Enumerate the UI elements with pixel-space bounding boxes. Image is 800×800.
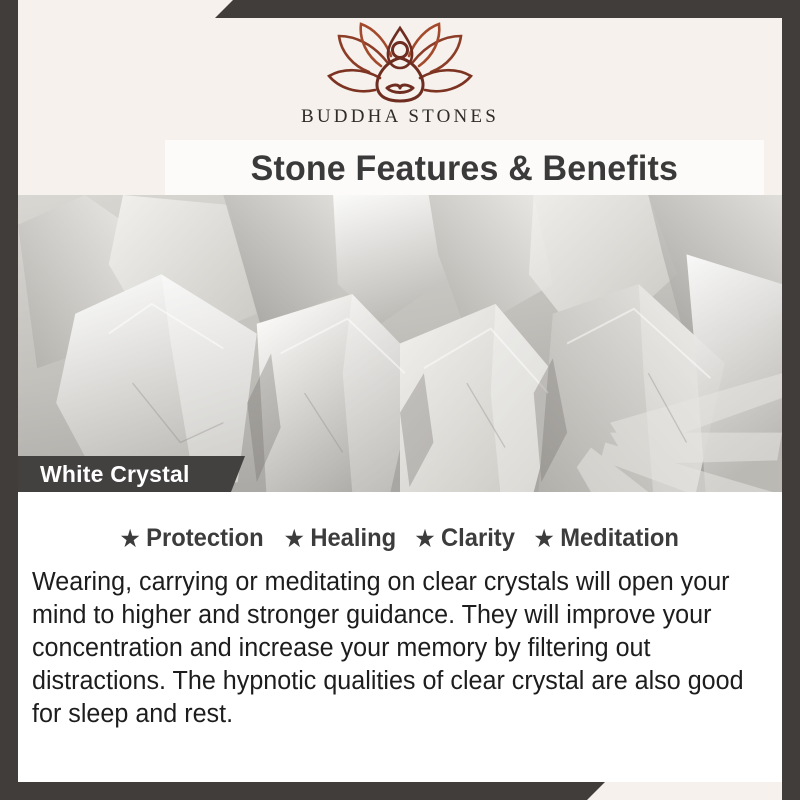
stone-name-badge: White Crystal [18, 456, 245, 492]
crystal-photo: White Crystal [18, 195, 782, 492]
crystal-photo-illustration [18, 195, 782, 492]
brand-header: BUDDHA STONES [18, 18, 782, 140]
frame-band-right [782, 0, 800, 800]
benefit-label: Protection [146, 524, 263, 553]
poster: BUDDHA STONES Stone Features & Benefits [0, 0, 800, 800]
benefits-list: ★ Protection ★ Healing ★ Clarity ★ Medit… [18, 492, 782, 553]
benefit-item-healing: ★ Healing [284, 524, 395, 553]
page-title: Stone Features & Benefits [251, 149, 678, 189]
frame-band-top [215, 0, 800, 18]
benefit-item-meditation: ★ Meditation [535, 524, 679, 553]
benefit-item-clarity: ★ Clarity [415, 524, 514, 553]
star-icon: ★ [121, 528, 140, 550]
content-area: ★ Protection ★ Healing ★ Clarity ★ Medit… [18, 492, 782, 782]
title-bar: Stone Features & Benefits [165, 140, 764, 197]
description-paragraph: Wearing, carrying or meditating on clear… [32, 566, 757, 730]
star-icon: ★ [535, 528, 554, 550]
star-icon: ★ [284, 528, 303, 550]
benefit-label: Clarity [441, 524, 515, 553]
lotus-meditation-icon [325, 22, 475, 110]
benefit-item-protection: ★ Protection [121, 524, 264, 553]
star-icon: ★ [415, 528, 434, 550]
benefit-label: Healing [310, 524, 396, 553]
frame-band-bottom [0, 782, 605, 800]
page-inner: BUDDHA STONES Stone Features & Benefits [18, 18, 782, 782]
brand-name: BUDDHA STONES [301, 106, 499, 128]
frame-band-left [0, 0, 18, 800]
brand-logo: BUDDHA STONES [18, 22, 782, 128]
benefit-label: Meditation [560, 524, 679, 553]
